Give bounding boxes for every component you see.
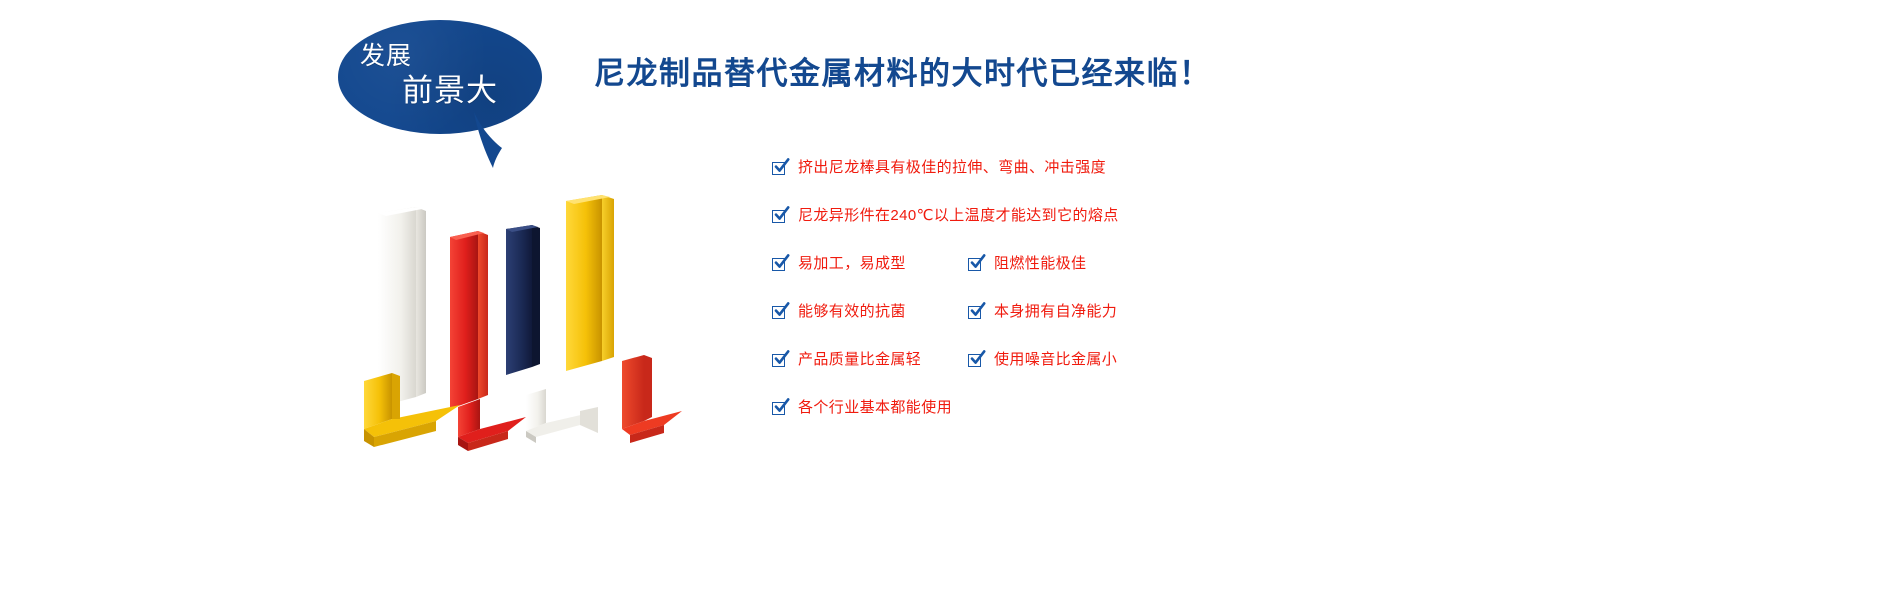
- feature-item: 阻燃性能极佳: [968, 254, 1086, 274]
- feature-item-label: 尼龙异形件在240℃以上温度才能达到它的熔点: [798, 206, 1119, 226]
- feature-item: 尼龙异形件在240℃以上温度才能达到它的熔点: [772, 206, 1119, 226]
- checked-checkbox-icon: [772, 401, 787, 416]
- feature-item-label: 挤出尼龙棒具有极佳的拉伸、弯曲、冲击强度: [798, 158, 1106, 178]
- bubble-line-2: 前景大: [402, 74, 498, 108]
- navy-flat-bar: [506, 225, 540, 375]
- feature-item: 能够有效的抗菌: [772, 302, 906, 322]
- checked-checkbox-icon: [968, 257, 983, 272]
- checked-checkbox-icon: [772, 305, 787, 320]
- feature-item-label: 各个行业基本都能使用: [798, 398, 952, 418]
- feature-item: 挤出尼龙棒具有极佳的拉伸、弯曲、冲击强度: [772, 158, 1106, 178]
- feature-row: 产品质量比金属轻使用噪音比金属小: [772, 350, 1192, 374]
- product-photo: [330, 185, 730, 465]
- feature-item-label: 能够有效的抗菌: [798, 302, 906, 322]
- feature-list: 挤出尼龙棒具有极佳的拉伸、弯曲、冲击强度尼龙异形件在240℃以上温度才能达到它的…: [772, 158, 1192, 433]
- checked-checkbox-icon: [968, 353, 983, 368]
- feature-row: 各个行业基本都能使用: [772, 398, 1192, 422]
- feature-row: 挤出尼龙棒具有极佳的拉伸、弯曲、冲击强度: [772, 158, 1192, 182]
- feature-item-label: 使用噪音比金属小: [994, 350, 1117, 370]
- feature-item: 本身拥有自净能力: [968, 302, 1117, 322]
- feature-row: 易加工，易成型阻燃性能极佳: [772, 254, 1192, 278]
- feature-row: 尼龙异形件在240℃以上温度才能达到它的熔点: [772, 206, 1192, 230]
- feature-item-label: 阻燃性能极佳: [994, 254, 1086, 274]
- red-l-profile-low: [458, 399, 526, 451]
- white-u-channel-low: [526, 389, 598, 443]
- feature-item: 各个行业基本都能使用: [772, 398, 952, 418]
- checked-checkbox-icon: [772, 353, 787, 368]
- feature-item-label: 产品质量比金属轻: [798, 350, 921, 370]
- feature-item: 产品质量比金属轻: [772, 350, 921, 370]
- red-angle-low: [622, 355, 682, 443]
- promo-banner: 发展 前景大 尼龙制品替代金属材料的大时代已经来临！: [0, 0, 1902, 592]
- checked-checkbox-icon: [968, 305, 983, 320]
- feature-item-label: 易加工，易成型: [798, 254, 906, 274]
- red-l-profile-tall: [450, 231, 488, 409]
- checked-checkbox-icon: [772, 257, 787, 272]
- feature-item-label: 本身拥有自净能力: [994, 302, 1117, 322]
- yellow-u-channel-tall: [566, 195, 614, 371]
- feature-item: 易加工，易成型: [772, 254, 906, 274]
- feature-item: 使用噪音比金属小: [968, 350, 1117, 370]
- speech-bubble: 发展 前景大: [338, 20, 550, 170]
- bubble-line-1: 发展: [360, 42, 412, 70]
- feature-row: 能够有效的抗菌本身拥有自净能力: [772, 302, 1192, 326]
- checked-checkbox-icon: [772, 161, 787, 176]
- page-title: 尼龙制品替代金属材料的大时代已经来临！: [594, 54, 1212, 94]
- checked-checkbox-icon: [772, 209, 787, 224]
- speech-bubble-tail-icon: [472, 108, 510, 170]
